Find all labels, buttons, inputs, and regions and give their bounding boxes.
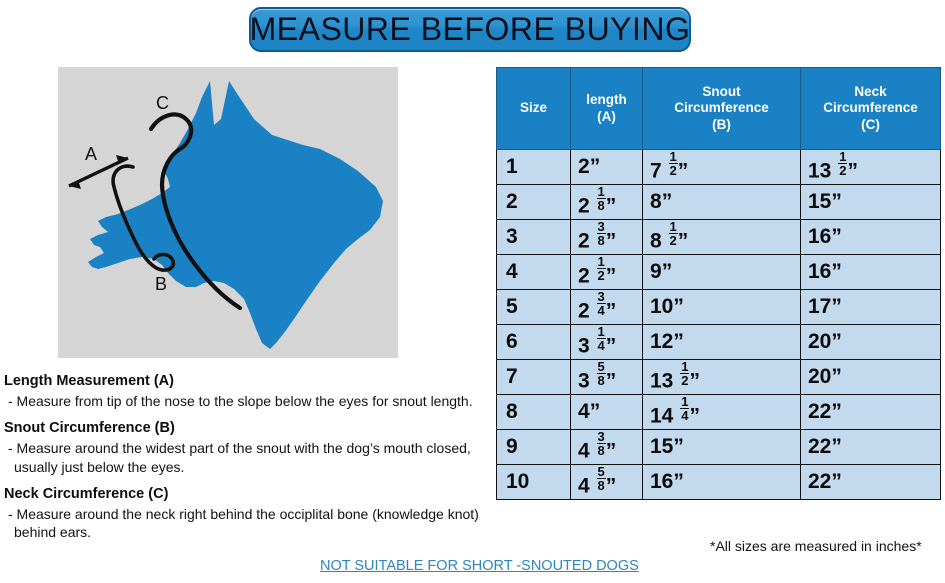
cell-length: 2 34” (571, 290, 643, 325)
cell-length: 2 38” (571, 220, 643, 255)
instruction-body-snout: - Measure around the widest part of the … (8, 439, 492, 475)
label-a: A (85, 144, 97, 164)
instruction-block-snout: Snout Circumference (B) - Measure around… (4, 419, 492, 476)
short-snout-warning: NOT SUITABLE FOR SHORT -SNOUTED DOGS (320, 558, 639, 574)
column-header-size-label: Size (520, 100, 547, 115)
table-row: 63 14”12”20” (497, 325, 941, 360)
cell-neck-circumference: 16” (801, 220, 941, 255)
cell-size: 9 (497, 430, 571, 465)
cell-neck-circumference: 22” (801, 430, 941, 465)
cell-neck-circumference: 15” (801, 185, 941, 220)
column-header-length: length (A) (571, 68, 643, 150)
table-row: 94 38”15”22” (497, 430, 941, 465)
cell-length: 2 12” (571, 255, 643, 290)
table-body: 12”7 12”13 12”22 18”8”15”32 38”8 12”16”4… (497, 150, 941, 500)
cell-length: 3 58” (571, 360, 643, 395)
table-row: 32 38”8 12”16” (497, 220, 941, 255)
table-row: 22 18”8”15” (497, 185, 941, 220)
cell-size: 3 (497, 220, 571, 255)
cell-snout-circumference: 13 12” (643, 360, 801, 395)
cell-size: 2 (497, 185, 571, 220)
fraction: 12 (597, 255, 606, 283)
cell-size: 7 (497, 360, 571, 395)
instruction-block-neck: Neck Circumference (C) - Measure around … (4, 485, 492, 542)
page-title: MEASURE BEFORE BUYING (250, 11, 691, 48)
cell-length: 3 14” (571, 325, 643, 360)
fraction: 38 (597, 430, 606, 458)
cell-snout-circumference: 10” (643, 290, 801, 325)
column-header-neck-line2: Circumference (823, 100, 918, 115)
cell-snout-circumference: 16” (643, 465, 801, 500)
cell-size: 5 (497, 290, 571, 325)
instruction-body-length: - Measure from tip of the nose to the sl… (8, 392, 492, 410)
cell-neck-circumference: 17” (801, 290, 941, 325)
column-header-neck-line1: Neck (854, 84, 886, 99)
size-chart-table: Size length (A) Snout Circumference (B) … (496, 67, 941, 500)
cell-snout-circumference: 9” (643, 255, 801, 290)
dog-silhouette-shape (88, 81, 383, 349)
cell-length: 4” (571, 395, 643, 430)
fraction: 58 (597, 360, 606, 388)
measurement-instructions: Length Measurement (A) - Measure from ti… (4, 372, 492, 550)
column-header-size: Size (497, 68, 571, 150)
cell-snout-circumference: 7 12” (643, 150, 801, 185)
cell-size: 1 (497, 150, 571, 185)
cell-length: 4 38” (571, 430, 643, 465)
table-row: 104 58”16”22” (497, 465, 941, 500)
cell-neck-circumference: 22” (801, 395, 941, 430)
length-measure-arrow-a (69, 155, 128, 189)
title-banner: MEASURE BEFORE BUYING (249, 7, 691, 52)
column-header-snout-line2: Circumference (674, 100, 769, 115)
fraction: 12 (669, 220, 678, 248)
column-header-snout-line3: (B) (712, 117, 731, 132)
column-header-length-line1: length (586, 92, 627, 107)
fraction: 12 (669, 150, 678, 178)
instruction-heading-length: Length Measurement (A) (4, 372, 492, 390)
cell-snout-circumference: 8 12” (643, 220, 801, 255)
cell-length: 2 18” (571, 185, 643, 220)
table-row: 84”14 14”22” (497, 395, 941, 430)
cell-snout-circumference: 12” (643, 325, 801, 360)
cell-neck-circumference: 20” (801, 360, 941, 395)
cell-neck-circumference: 16” (801, 255, 941, 290)
table-header-row: Size length (A) Snout Circumference (B) … (497, 68, 941, 150)
units-note: *All sizes are measured in inches* (710, 538, 922, 554)
table-row: 12”7 12”13 12” (497, 150, 941, 185)
cell-neck-circumference: 22” (801, 465, 941, 500)
table-row: 73 58”13 12”20” (497, 360, 941, 395)
instruction-body-neck: - Measure around the neck right behind t… (8, 505, 492, 541)
instruction-heading-snout: Snout Circumference (B) (4, 419, 492, 437)
fraction: 38 (597, 220, 606, 248)
column-header-snout-line1: Snout (702, 84, 740, 99)
cell-snout-circumference: 15” (643, 430, 801, 465)
cell-size: 4 (497, 255, 571, 290)
column-header-neck: Neck Circumference (C) (801, 68, 941, 150)
label-b: B (155, 274, 167, 294)
cell-snout-circumference: 8” (643, 185, 801, 220)
fraction: 58 (597, 465, 606, 493)
column-header-neck-line3: (C) (861, 117, 880, 132)
cell-size: 8 (497, 395, 571, 430)
fraction: 18 (597, 185, 606, 213)
cell-snout-circumference: 14 14” (643, 395, 801, 430)
label-c: C (156, 93, 169, 113)
table-row: 52 34”10”17” (497, 290, 941, 325)
instruction-heading-neck: Neck Circumference (C) (4, 485, 492, 503)
cell-length: 4 58” (571, 465, 643, 500)
cell-neck-circumference: 13 12” (801, 150, 941, 185)
dog-head-measurement-diagram: C B A (58, 67, 398, 358)
cell-size: 10 (497, 465, 571, 500)
cell-size: 6 (497, 325, 571, 360)
instruction-block-length: Length Measurement (A) - Measure from ti… (4, 372, 492, 410)
cell-length: 2” (571, 150, 643, 185)
table-row: 42 12”9”16” (497, 255, 941, 290)
cell-neck-circumference: 20” (801, 325, 941, 360)
column-header-length-line2: (A) (597, 109, 616, 124)
column-header-snout: Snout Circumference (B) (643, 68, 801, 150)
fraction: 14 (597, 325, 606, 353)
fraction: 34 (597, 290, 606, 318)
